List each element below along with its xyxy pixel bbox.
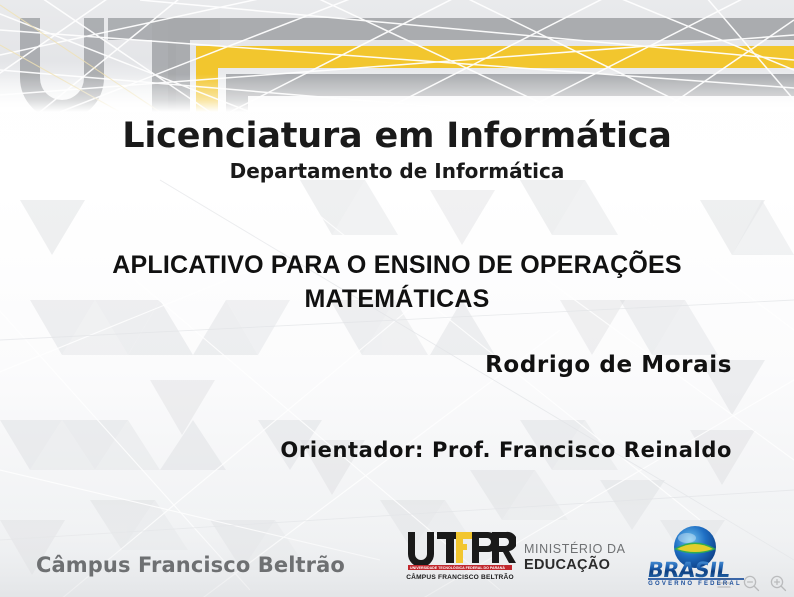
menu-icon[interactable] [714, 573, 734, 593]
department-title: Licenciatura em Informática [0, 118, 794, 155]
advisor-name: Orientador: Prof. Francisco Reinaldo [280, 438, 732, 462]
utfpr-campus-label: CÂMPUS FRANCISCO BELTRÃO [406, 572, 514, 581]
ministerio-line1: MINISTÉRIO DA [524, 541, 626, 556]
utfpr-tagline: UNIVERSIDADE TECNOLÓGICA FEDERAL DO PARA… [410, 565, 505, 570]
ministerio-educacao-logo: MINISTÉRIO DA EDUCAÇÃO [522, 538, 626, 574]
zoom-out-icon[interactable] [741, 573, 761, 593]
ministerio-line2: EDUCAÇÃO [524, 555, 610, 573]
utfpr-logo: UNIVERSIDADE TECNOLÓGICA FEDERAL DO PARA… [404, 528, 516, 584]
presentation-title: APLICATIVO PARA O ENSINO DE OPERAÇÕES MA… [56, 249, 738, 316]
slide-content: Licenciatura em Informática Departamento… [0, 0, 794, 597]
author-name: Rodrigo de Morais [485, 352, 732, 378]
department-subtitle: Departamento de Informática [0, 160, 794, 182]
campus-footer-label: Câmpus Francisco Beltrão [36, 553, 345, 577]
zoom-in-icon[interactable] [768, 573, 788, 593]
presentation-slide: Licenciatura em Informática Departamento… [0, 0, 794, 597]
viewer-controls[interactable] [714, 573, 788, 593]
